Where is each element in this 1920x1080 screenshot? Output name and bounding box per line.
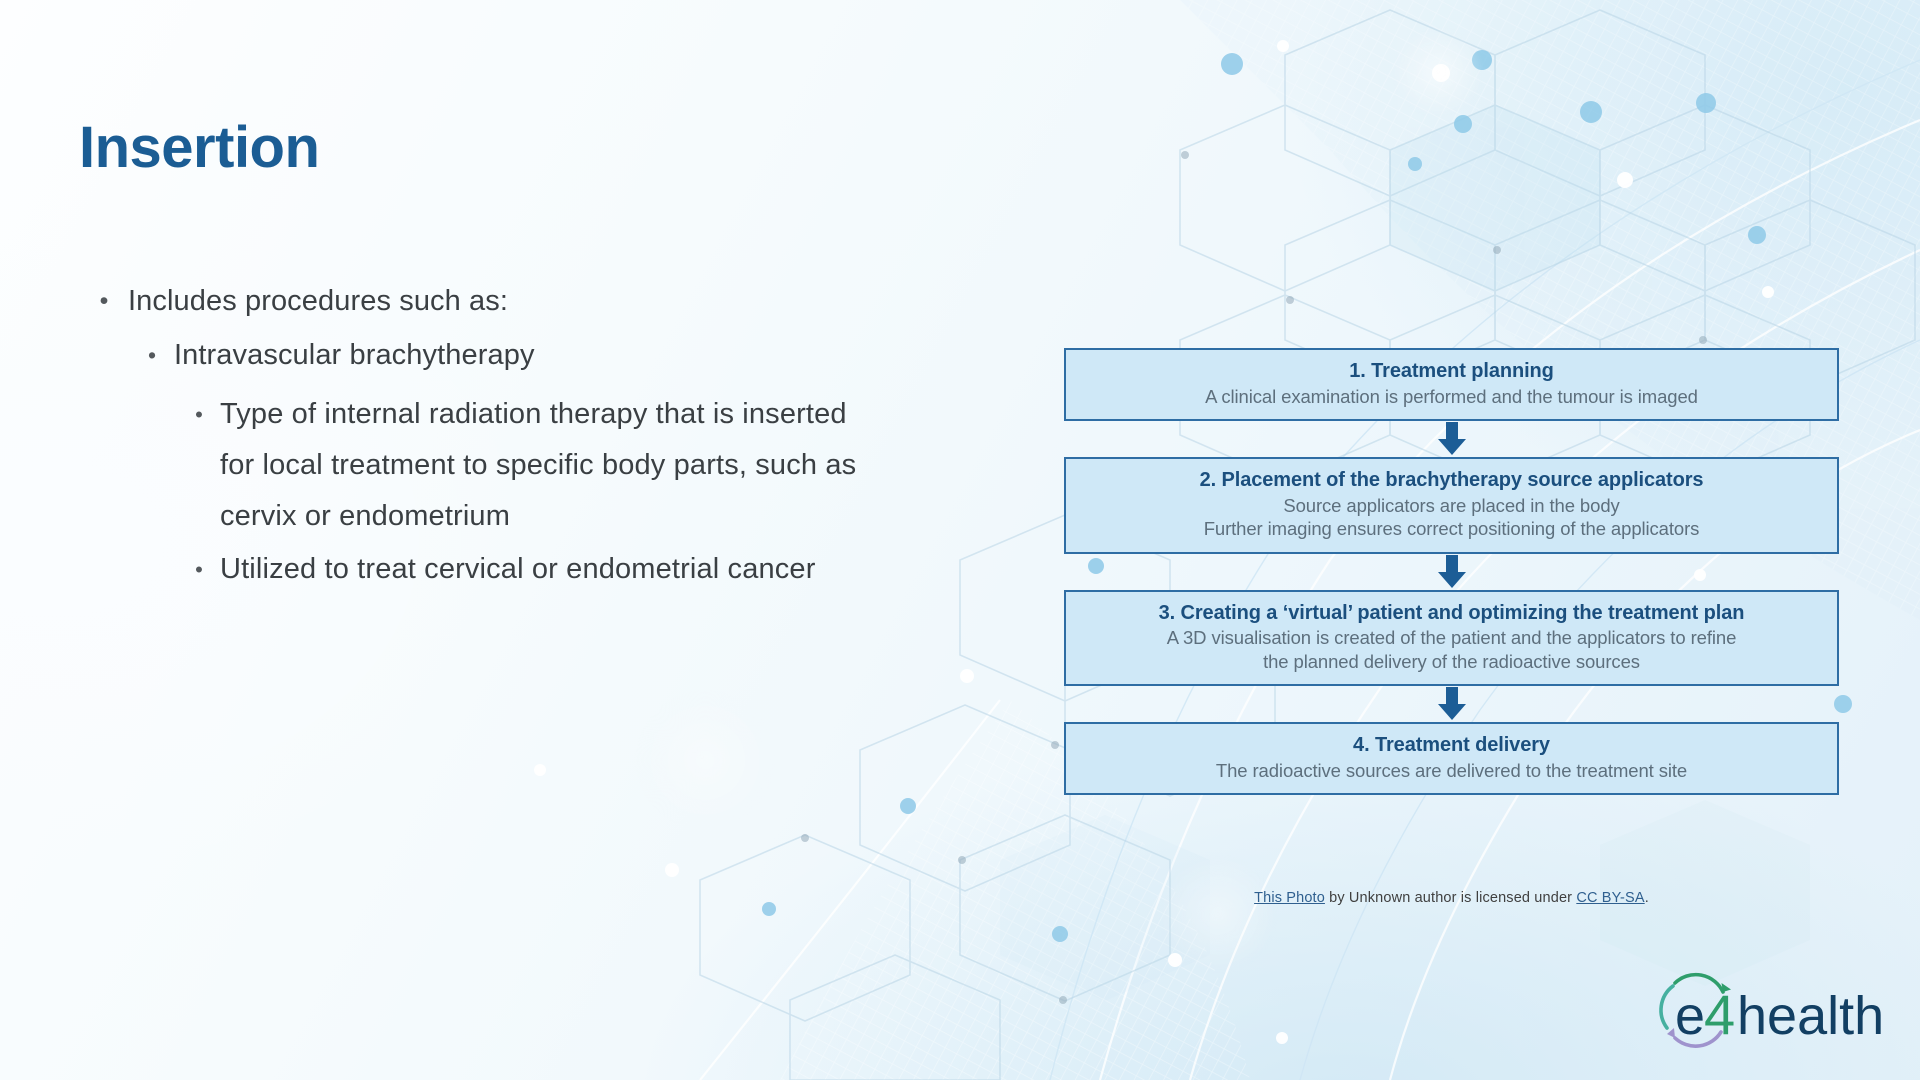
flow-step-3-title: 3. Creating a ‘virtual’ patient and opti…: [1082, 601, 1821, 627]
flow-arrow-2-to-3: [1064, 554, 1839, 590]
attribution-middle-text: by Unknown author is licensed under: [1325, 890, 1576, 906]
bullet-marker-icon: •: [130, 335, 174, 376]
arrow-down-icon: [1435, 422, 1469, 456]
flow-step-4-title: 4. Treatment delivery: [1082, 733, 1821, 759]
flow-step-3: 3. Creating a ‘virtual’ patient and opti…: [1064, 590, 1839, 687]
flow-step-2-line-2: Further imaging ensures correct position…: [1082, 517, 1821, 540]
flow-arrow-1-to-2: [1064, 421, 1839, 457]
attribution-period: .: [1645, 890, 1649, 906]
flow-step-2-line-1: Source applicators are placed in the bod…: [1082, 494, 1821, 517]
flow-step-1-title: 1. Treatment planning: [1082, 359, 1821, 385]
bullet-marker-icon: •: [178, 544, 220, 595]
flow-step-4-line-1: The radioactive sources are delivered to…: [1082, 759, 1821, 782]
slide-canvas: Insertion • Includes procedures such as:…: [0, 0, 1920, 1080]
logo-text-4: 4: [1704, 983, 1735, 1046]
arrow-down-icon: [1435, 555, 1469, 589]
list-item-text: Utilized to treat cervical or endometria…: [220, 544, 880, 595]
flow-step-3-line-1: A 3D visualisation is created of the pat…: [1082, 626, 1821, 649]
logo-text-e: e: [1675, 986, 1705, 1046]
bullet-marker-icon: •: [80, 281, 128, 322]
arrow-down-icon: [1435, 687, 1469, 721]
list-item: • Includes procedures such as:: [80, 281, 880, 322]
flow-arrow-3-to-4: [1064, 686, 1839, 722]
list-item-text: Intravascular brachytherapy: [174, 335, 880, 376]
flow-step-2-title: 2. Placement of the brachytherapy source…: [1082, 468, 1821, 494]
list-item-text: Includes procedures such as:: [128, 281, 880, 322]
flow-step-4: 4. Treatment delivery The radioactive so…: [1064, 722, 1839, 795]
arrow-head-bottom-icon: [1667, 1028, 1675, 1038]
bullet-list: • Includes procedures such as: • Intrava…: [80, 281, 880, 597]
flow-step-1: 1. Treatment planning A clinical examina…: [1064, 348, 1839, 421]
flow-step-2: 2. Placement of the brachytherapy source…: [1064, 457, 1839, 554]
list-item: • Utilized to treat cervical or endometr…: [178, 544, 880, 595]
slide-title: Insertion: [79, 118, 319, 179]
brachytherapy-flowchart: 1. Treatment planning A clinical examina…: [1064, 348, 1839, 795]
bullet-marker-icon: •: [178, 389, 220, 440]
logo-text-health: health: [1737, 986, 1884, 1046]
license-link[interactable]: CC BY-SA: [1576, 890, 1644, 906]
list-item-text: Type of internal radiation therapy that …: [220, 389, 880, 542]
e4health-logo: e 4 health: [1651, 966, 1886, 1054]
flow-step-1-line-1: A clinical examination is performed and …: [1082, 385, 1821, 408]
list-item: • Type of internal radiation therapy tha…: [178, 389, 880, 542]
image-attribution: This Photo by Unknown author is licensed…: [1064, 890, 1839, 906]
this-photo-link[interactable]: This Photo: [1254, 890, 1325, 906]
list-item: • Intravascular brachytherapy: [130, 335, 880, 376]
flow-step-3-line-2: the planned delivery of the radioactive …: [1082, 650, 1821, 673]
